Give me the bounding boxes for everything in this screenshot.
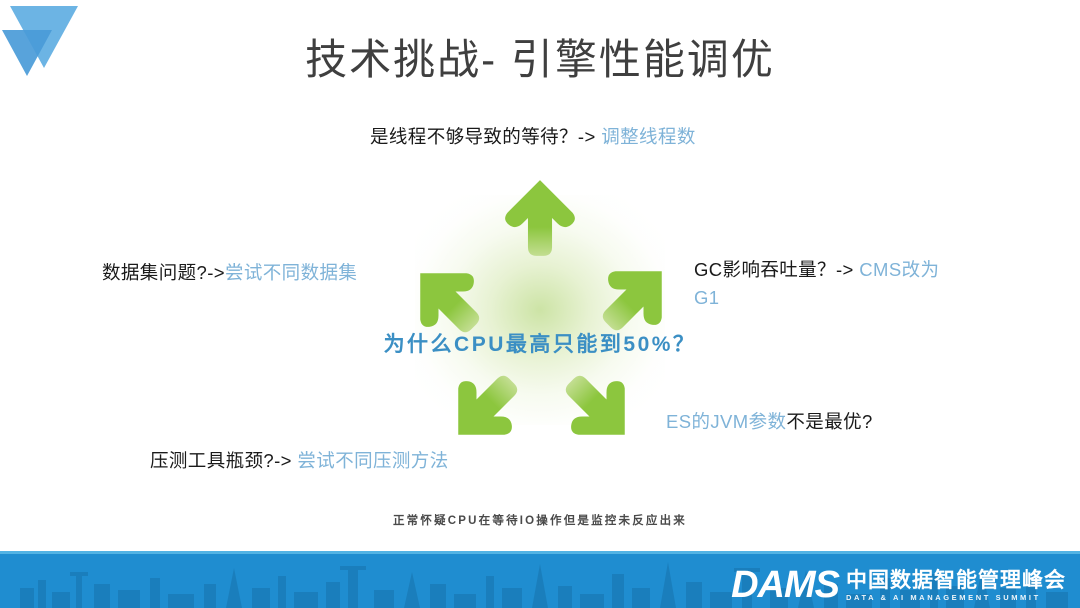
page-title: 技术挑战- 引擎性能调优 (0, 26, 1080, 87)
callout-threads-problem: 是线程不够导致的等待？-> (370, 126, 601, 147)
dams-brand-text: 中国数据智能管理峰会 DATA & AI MANAGEMENT SUMMIT (846, 570, 1066, 605)
footer-band: DAMS 中国数据智能管理峰会 DATA & AI MANAGEMENT SUM… (0, 551, 1080, 608)
callout-threads-solution: 调整线程数 (601, 126, 696, 147)
callout-gc-solution-line2: G1 (694, 287, 719, 308)
slide-canvas: 技术挑战- 引擎性能调优 (0, 0, 1080, 608)
callout-stress-tool: 压测工具瓶颈?-> 尝试不同压测方法 (150, 447, 449, 475)
callout-stress-tool-solution: 尝试不同压测方法 (297, 450, 448, 471)
callout-jvm-solution: 不是最优? (786, 411, 872, 432)
callout-dataset: 数据集问题?->尝试不同数据集 (102, 259, 357, 287)
arrow-down-right-icon (537, 347, 659, 469)
callout-dataset-problem: 数据集问题?-> (102, 262, 225, 283)
callout-dataset-solution: 尝试不同数据集 (225, 262, 357, 283)
dams-brand-en: DATA & AI MANAGEMENT SUMMIT (846, 594, 1041, 602)
callout-stress-tool-problem: 压测工具瓶颈?-> (150, 450, 297, 471)
callout-threads: 是线程不够导致的等待？-> 调整线程数 (370, 123, 696, 151)
arrow-up-icon (497, 175, 583, 261)
radiating-arrows-graphic (390, 175, 690, 445)
callout-jvm-problem: ES的JVM参数 (666, 411, 786, 432)
callout-jvm: ES的JVM参数不是最优? (666, 408, 873, 436)
callout-gc: GC影响吞吐量？-> CMS改为G1 (694, 256, 964, 312)
dams-brand: DAMS 中国数据智能管理峰会 DATA & AI MANAGEMENT SUM… (731, 556, 1066, 604)
center-question: 为什么CPU最高只能到50%？ (0, 328, 1080, 358)
dams-wordmark: DAMS (731, 566, 839, 604)
bottom-note: 正常怀疑CPU在等待IO操作但是监控未反应出来 (0, 512, 1080, 528)
callout-gc-solution-line1: CMS改为 (859, 259, 939, 280)
callout-gc-problem: GC影响吞吐量？-> (694, 259, 859, 280)
dams-brand-cn: 中国数据智能管理峰会 (846, 570, 1066, 591)
